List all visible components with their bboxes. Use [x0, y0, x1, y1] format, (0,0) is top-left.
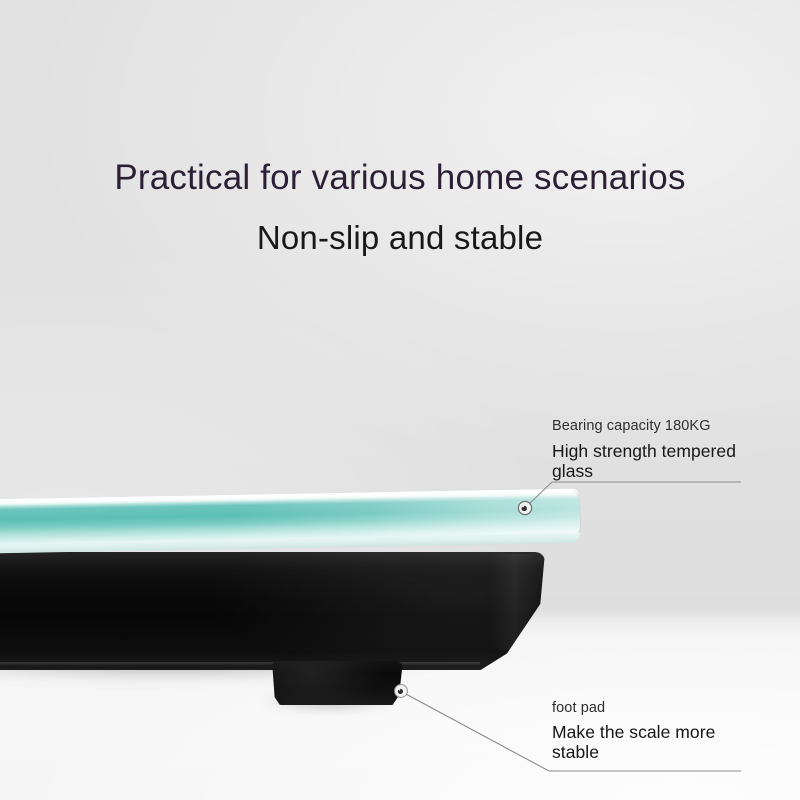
scale-glass-top — [0, 489, 580, 562]
headline-secondary: Non-slip and stable — [0, 219, 800, 257]
callout-glass: Bearing capacity 180KG High strength tem… — [552, 418, 762, 482]
callout-foot-pad-description: Make the scale more stable — [552, 722, 752, 763]
callout-foot-pad: foot pad Make the scale more stable — [552, 700, 752, 763]
callout-glass-kicker: Bearing capacity 180KG — [552, 418, 762, 434]
callout-foot-pad-kicker: foot pad — [552, 700, 752, 716]
scale-body — [0, 540, 560, 680]
product-feature-image: Practical for various home scenarios Non… — [0, 0, 800, 800]
callout-glass-description: High strength tempered glass — [552, 441, 762, 482]
headline-primary: Practical for various home scenarios — [0, 158, 800, 198]
scale-glass-slab — [0, 489, 580, 552]
scale-foot-pad — [272, 661, 403, 705]
scale-body-shell — [0, 552, 545, 670]
